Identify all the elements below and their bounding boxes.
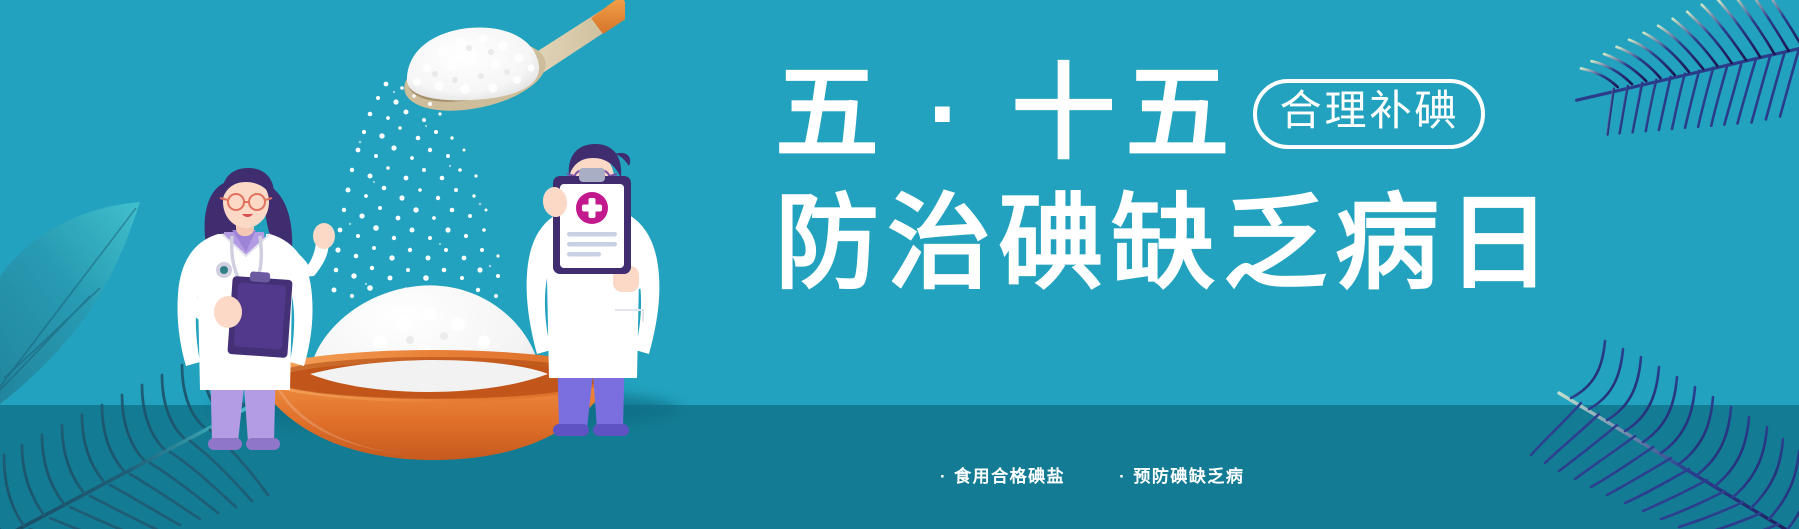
tagline-list: ·食用合格碘盐 ·预防碘缺乏病 bbox=[940, 462, 1244, 487]
banner-text-block: 五 · 十五 合理补碘 防治碘缺乏病日 bbox=[775, 58, 1775, 300]
page-title: 五 · 十五 bbox=[775, 62, 1239, 166]
tagline-text: 预防碘缺乏病 bbox=[1133, 467, 1244, 486]
female-doctor-illustration bbox=[152, 160, 337, 455]
title-row: 五 · 十五 合理补碘 bbox=[775, 58, 1775, 170]
bullet-dot-icon: · bbox=[940, 467, 947, 486]
list-item: ·预防碘缺乏病 bbox=[1119, 462, 1244, 487]
bullet-dot-icon: · bbox=[1119, 467, 1126, 486]
status-badge: 合理补碘 bbox=[1253, 79, 1485, 149]
palm-leaf-icon bbox=[0, 200, 170, 430]
iodine-deficiency-day-banner: 五 · 十五 合理补碘 防治碘缺乏病日 ·食用合格碘盐 ·预防碘缺乏病 bbox=[0, 0, 1799, 529]
male-doctor-illustration bbox=[495, 140, 685, 440]
tagline-text: 食用合格碘盐 bbox=[954, 467, 1065, 486]
list-item: ·食用合格碘盐 bbox=[940, 462, 1065, 487]
headline: 防治碘缺乏病日 bbox=[775, 188, 1775, 300]
